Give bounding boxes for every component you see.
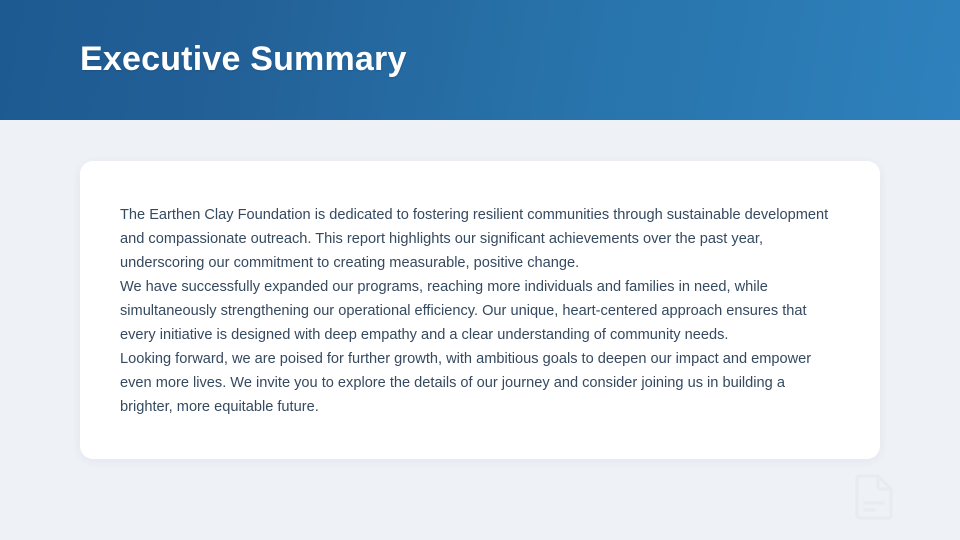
summary-body: The Earthen Clay Foundation is dedicated…: [120, 203, 840, 419]
summary-paragraph-3: Looking forward, we are poised for furth…: [120, 347, 840, 419]
summary-card: The Earthen Clay Foundation is dedicated…: [80, 161, 880, 459]
slide-header: Executive Summary: [0, 0, 960, 120]
document-icon: [853, 473, 895, 521]
summary-paragraph-1: The Earthen Clay Foundation is dedicated…: [120, 203, 840, 275]
summary-paragraph-2: We have successfully expanded our progra…: [120, 275, 840, 347]
page-title: Executive Summary: [80, 41, 407, 78]
